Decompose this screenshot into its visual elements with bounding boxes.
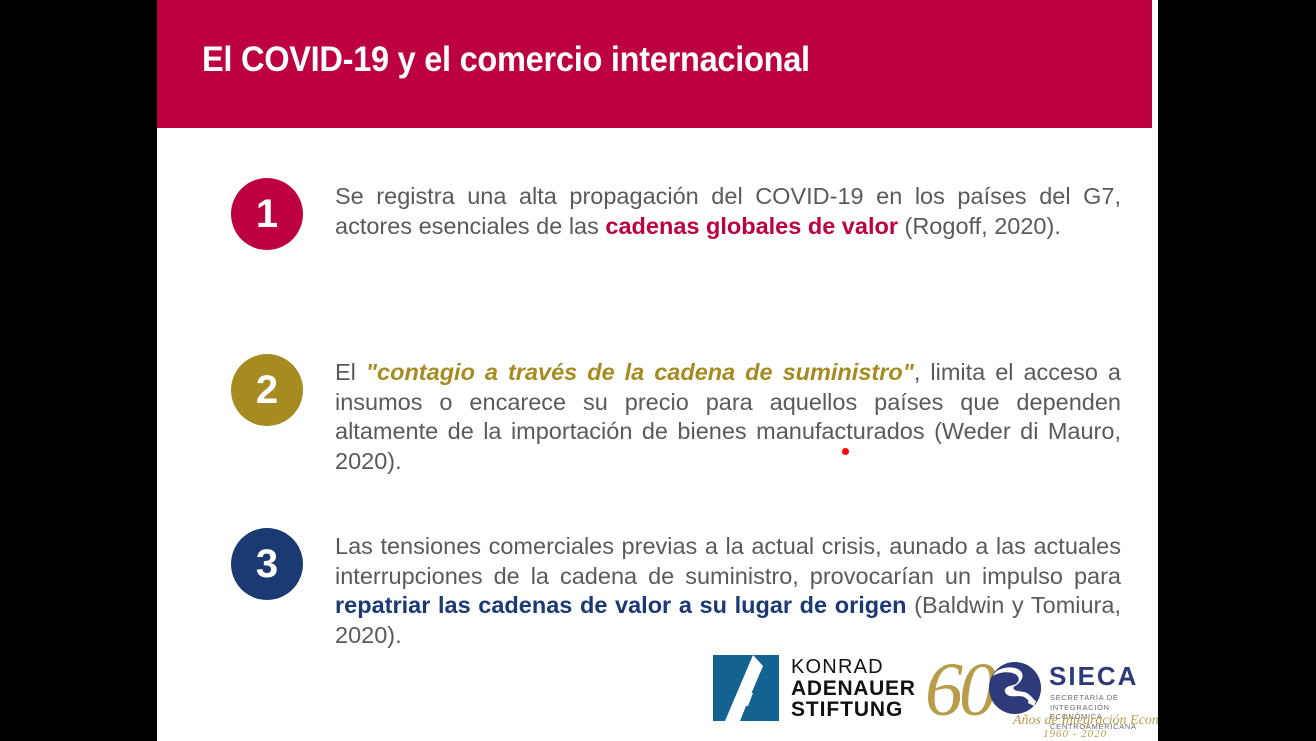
kas-a-mark-icon [713,655,779,721]
kas-line-stiftung: STIFTUNG [791,699,916,720]
bullet-text-1: Se registra una alta propagación del COV… [335,178,1121,241]
bullet-number-badge-2: 2 [231,354,303,426]
logo-strip: KONRAD ADENAUER STIFTUNG 60 SIECA [713,650,1158,741]
slide-title: El COVID-19 y el comercio internacional [202,40,810,80]
kas-line-adenauer: ADENAUER [791,678,916,699]
bullet-text-2-pre: El [335,359,366,385]
bullet-text-2: El "contagio a través de la cadena de su… [335,354,1121,476]
bullet-text-3: Las tensiones comerciales previas a la a… [335,528,1121,650]
bullet-item-2: 2 El "contagio a través de la cadena de … [231,354,1121,476]
bullet-number-badge-3: 3 [231,528,303,600]
sieca-central-america-map-icon [989,662,1041,714]
bullet-item-3: 3 Las tensiones comerciales previas a la… [231,528,1121,650]
kas-wordmark: KONRAD ADENAUER STIFTUNG [791,657,916,720]
bullet-number-badge-1: 1 [231,178,303,250]
bullet-text-3-pre: Las tensiones comerciales previas a la a… [335,533,1121,589]
bullet-highlight-1: cadenas globales de valor [605,213,898,239]
konrad-adenauer-stiftung-logo: KONRAD ADENAUER STIFTUNG [713,655,916,721]
sieca-anniversary-number: 60 [925,652,993,728]
sieca-logo: 60 SIECA SECRETARÍA DE INTEGRACIÓN ECONÓ… [925,650,1158,741]
bullet-highlight-3: repatriar las cadenas de valor a su luga… [335,592,907,618]
laser-pointer-dot [842,448,849,455]
sieca-years-range: 1960 - 2020 [1043,729,1107,740]
sieca-tagline: Años de Integración Económica [1013,714,1158,728]
title-banner: El COVID-19 y el comercio internacional [157,0,1152,128]
bullet-text-1-post: (Rogoff, 2020). [898,213,1061,239]
slide-stage: El COVID-19 y el comercio internacional … [0,0,1316,741]
presentation-slide: El COVID-19 y el comercio internacional … [157,0,1158,741]
kas-line-konrad: KONRAD [791,657,916,678]
bullet-highlight-2: "contagio a través de la cadena de sumin… [366,359,914,385]
sieca-subtitle-line-1: SECRETARÍA DE INTEGRACIÓN [1050,693,1158,712]
sieca-name: SIECA [1049,663,1138,689]
bullet-item-1: 1 Se registra una alta propagación del C… [231,178,1121,250]
